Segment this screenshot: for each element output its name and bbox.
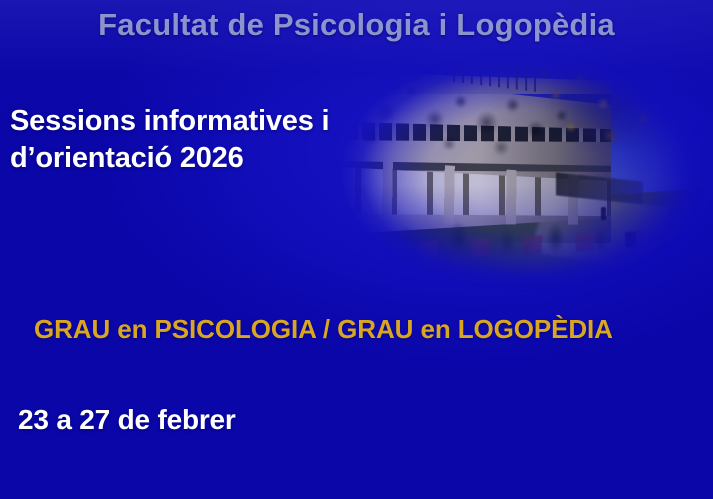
degrees-subtitle: GRAU en PSICOLOGIA / GRAU en LOGOPÈDIA: [34, 314, 613, 345]
page-title-line-1: Sessions informatives i: [10, 103, 340, 140]
waste-bin: [625, 232, 636, 247]
page-title-line-2: d’orientació 2026: [10, 140, 340, 177]
dates-label: 23 a 27 de febrer: [18, 404, 236, 436]
page-title: Sessions informatives i d’orientació 202…: [10, 103, 340, 177]
person-figure: [601, 207, 606, 220]
autumn-tree-canopy: [516, 51, 698, 197]
faculty-building-photo: [318, 46, 713, 298]
photo-content: [318, 46, 713, 298]
poster-canvas: Facultat de Psicologia i Logopèdia Sessi…: [0, 0, 713, 499]
faculty-name-heading: Facultat de Psicologia i Logopèdia: [0, 7, 713, 43]
